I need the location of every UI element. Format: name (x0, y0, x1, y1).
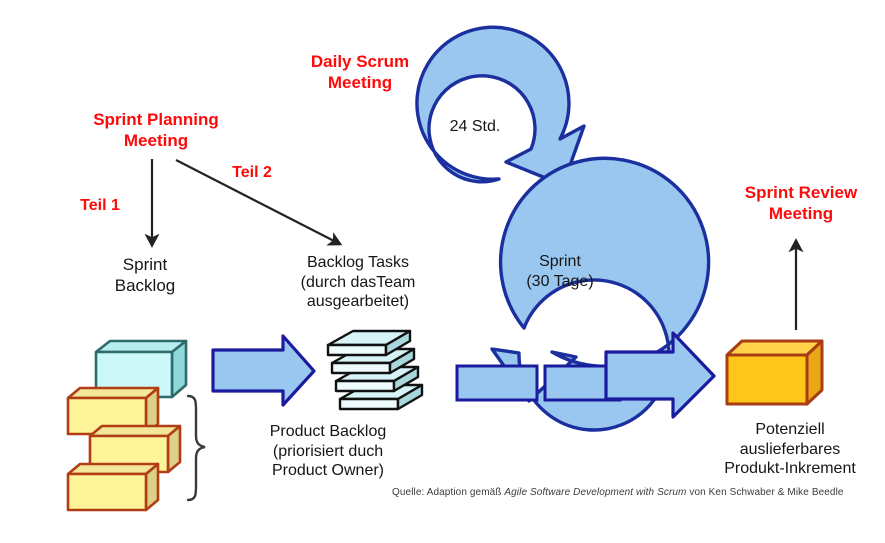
backlog-task-sheets-icon (328, 331, 422, 409)
daily-cycle-arrow-icon (417, 27, 584, 185)
label-teil-1: Teil 1 (70, 196, 130, 216)
source-note: Quelle: Adaption gemäß Agile Software De… (392, 487, 844, 498)
cycle-base-bar-left (457, 366, 537, 400)
product-increment-box-icon (727, 341, 822, 404)
label-daily-scrum-meeting: Daily Scrum Meeting (275, 52, 445, 93)
product-backlog-stack-icon (68, 388, 180, 510)
scrum-diagram-canvas: Sprint Planning Meeting Teil 1 Teil 2 Da… (0, 0, 885, 543)
cycle-base-bar-right (545, 366, 620, 400)
sprint-backlog-box-icon (96, 341, 186, 397)
product-backlog-brace-icon (188, 396, 205, 500)
label-sprint-planning-meeting: Sprint Planning Meeting (66, 110, 246, 151)
label-cycle-sprint: Sprint (30 Tage) (500, 252, 620, 291)
label-sprint-backlog: Sprint Backlog (85, 255, 205, 296)
arrow-backlog-to-tasks-icon (213, 336, 314, 405)
label-cycle-daily: 24 Std. (420, 117, 530, 137)
source-title: Agile Software Development with Scrum (504, 487, 686, 498)
sprint-cycle-arrow-icon (492, 158, 709, 430)
label-product-backlog: Product Backlog (priorisiert duch Produc… (236, 422, 420, 481)
source-suffix: von Ken Schwaber & Mike Beedle (686, 487, 843, 498)
label-product-increment: Potenziell auslieferbares Produkt-Inkrem… (690, 420, 885, 479)
label-teil-2: Teil 2 (222, 163, 282, 183)
label-sprint-review-meeting: Sprint Review Meeting (718, 183, 884, 224)
arrow-sprint-to-increment-icon (606, 333, 714, 417)
label-backlog-tasks: Backlog Tasks (durch dasTeam ausgearbeit… (268, 253, 448, 312)
source-prefix: Quelle: Adaption gemäß (392, 487, 504, 498)
